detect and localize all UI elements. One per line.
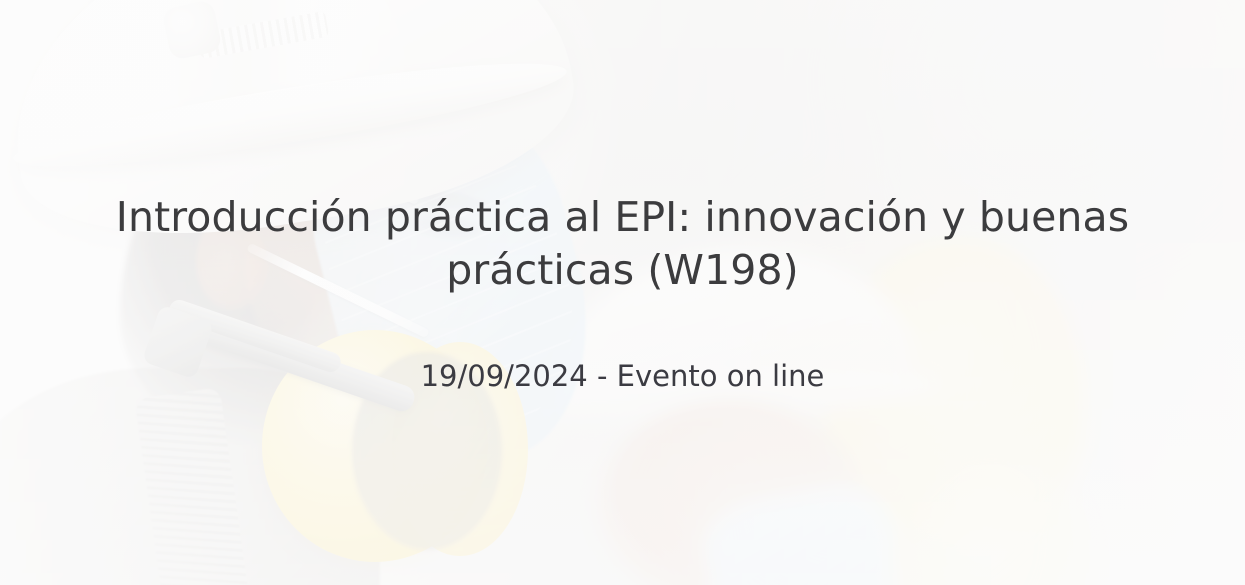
hero-content: Introducción práctica al EPI: innovación… [0,0,1245,585]
page-title: Introducción práctica al EPI: innovación… [56,191,1189,298]
event-hero-banner: Introducción práctica al EPI: innovación… [0,0,1245,585]
event-date-format-subtitle: 19/09/2024 - Evento on line [421,359,825,394]
